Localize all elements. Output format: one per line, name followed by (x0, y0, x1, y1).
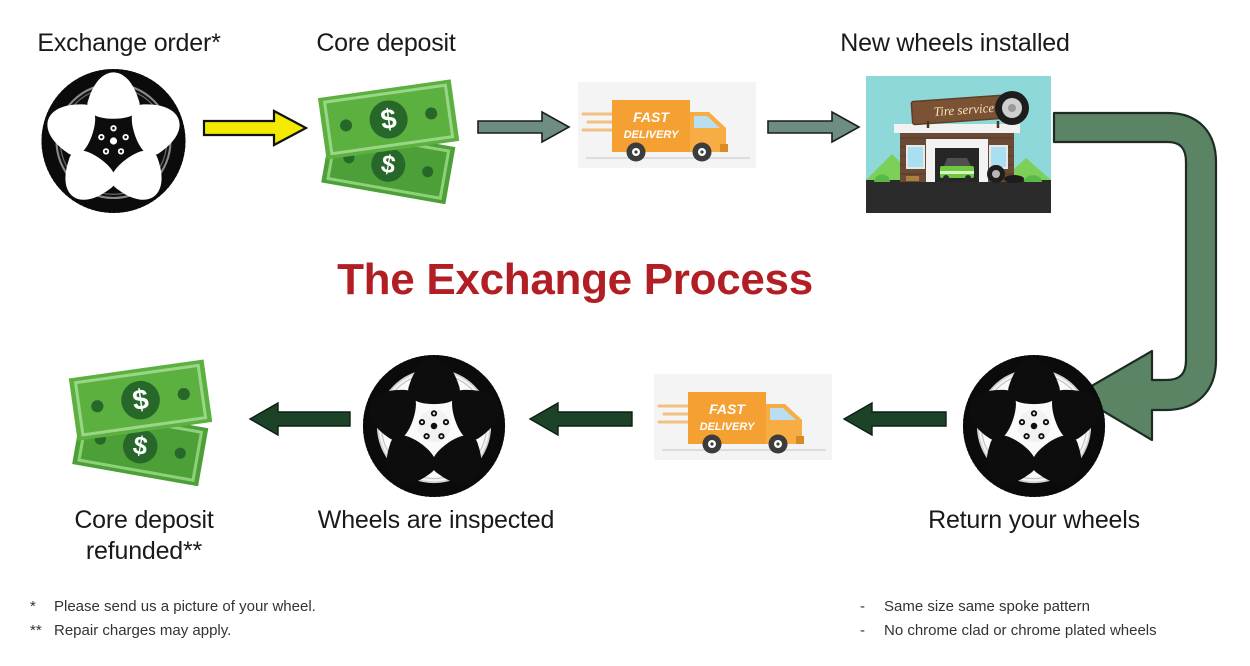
arrow-right-teal-icon (766, 110, 862, 144)
money-icon: $ $ (308, 72, 476, 204)
footnote-item: - No chrome clad or chrome plated wheels (860, 619, 1157, 643)
arrow-deposit-to-shipping (476, 110, 572, 144)
footnote-text: Repair charges may apply. (54, 619, 231, 643)
truck-text-fast: FAST (633, 109, 670, 125)
wheel-icon-return (958, 352, 1110, 500)
step-label-new-wheels-installed: New wheels installed (800, 28, 1110, 59)
truck-text-fast: FAST (709, 401, 746, 417)
wheel-icon (36, 66, 191, 216)
delivery-truck-icon-outbound: FAST DELIVERY (578, 82, 756, 168)
arrow-shipping-to-inspected (526, 401, 636, 437)
footnote-marker: * (30, 595, 54, 619)
arrow-right-yellow-icon (202, 108, 310, 148)
tire-service-shop-icon-wrapper: Tire service (866, 76, 1051, 213)
exchange-process-diagram: Exchange order* Core deposit New wheels … (0, 0, 1250, 666)
arrow-inspected-to-refund (246, 401, 354, 437)
step-label-exchange-order: Exchange order* (0, 28, 258, 59)
step-label-core-deposit-refunded: Core deposit refunded** (38, 505, 250, 566)
wheel-icon (958, 352, 1110, 500)
arrow-right-teal-icon (476, 110, 572, 144)
page-title: The Exchange Process (225, 255, 925, 305)
footnote-text: Same size same spoke pattern (884, 595, 1090, 619)
footnotes-left: * Please send us a picture of your wheel… (30, 595, 316, 643)
wheel-icon-exchange-order (36, 66, 191, 216)
arrow-exchange-to-deposit (202, 108, 310, 148)
wheel-icon (358, 352, 510, 500)
step-label-core-deposit: Core deposit (268, 28, 504, 59)
footnote-marker: - (860, 595, 884, 619)
footnote-text: Please send us a picture of your wheel. (54, 595, 316, 619)
footnotes-right: - Same size same spoke pattern - No chro… (860, 595, 1157, 643)
footnote-item: ** Repair charges may apply. (30, 619, 316, 643)
money-icon-core-deposit: $ $ (308, 72, 476, 204)
arrow-left-green-icon (840, 401, 950, 437)
tire-service-shop-icon: Tire service (866, 76, 1051, 213)
truck-text-delivery: DELIVERY (624, 129, 680, 141)
arrow-left-green-icon (526, 401, 636, 437)
footnote-marker: - (860, 619, 884, 643)
arrow-return-to-shipping (840, 401, 950, 437)
wheel-icon-inspected (358, 352, 510, 500)
arrow-shipping-to-install (766, 110, 862, 144)
step-label-wheels-are-inspected: Wheels are inspected (310, 505, 562, 536)
money-icon: $ $ (58, 352, 230, 486)
delivery-truck-icon: FAST DELIVERY (654, 374, 832, 460)
footnote-marker: ** (30, 619, 54, 643)
delivery-truck-icon: FAST DELIVERY (578, 82, 756, 168)
arrow-left-green-icon (246, 401, 354, 437)
step-label-return-your-wheels: Return your wheels (908, 505, 1160, 536)
money-icon-refund: $ $ (58, 352, 230, 486)
footnote-text: No chrome clad or chrome plated wheels (884, 619, 1157, 643)
footnote-item: * Please send us a picture of your wheel… (30, 595, 316, 619)
footnote-item: - Same size same spoke pattern (860, 595, 1157, 619)
delivery-truck-icon-return: FAST DELIVERY (654, 374, 832, 460)
truck-text-delivery: DELIVERY (700, 421, 756, 433)
